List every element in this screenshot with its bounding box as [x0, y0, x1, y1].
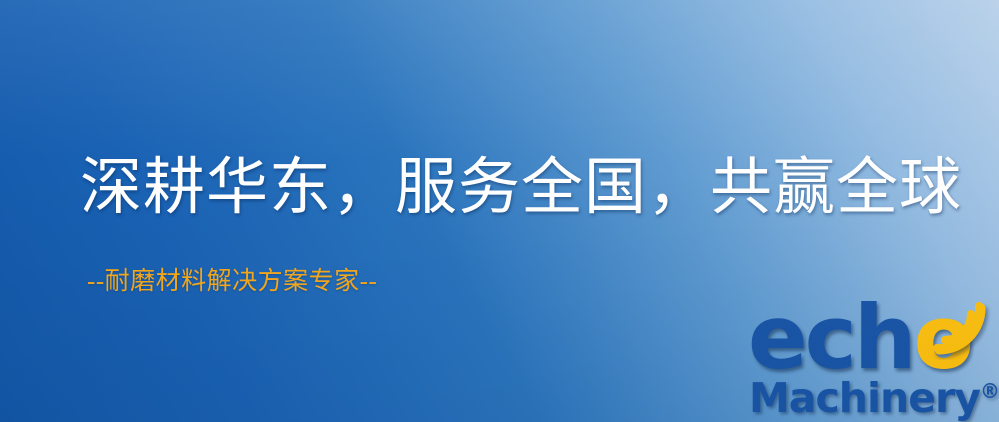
banner-headline: 深耕华东，服务全国，共赢全球 — [80, 151, 962, 225]
logo-machinery-text: Machinery — [749, 374, 980, 422]
echo-machinery-logo: echo Machinery® — [748, 296, 996, 420]
logo-wordmark-machinery: Machinery® — [749, 368, 999, 421]
promo-banner: 深耕华东，服务全国，共赢全球 --耐磨材料解决方案专家-- echo Machi… — [0, 0, 999, 422]
registered-trademark-icon: ® — [980, 379, 999, 403]
signal-arcs-icon — [929, 298, 991, 360]
banner-subtitle: --耐磨材料解决方案专家-- — [87, 267, 377, 297]
